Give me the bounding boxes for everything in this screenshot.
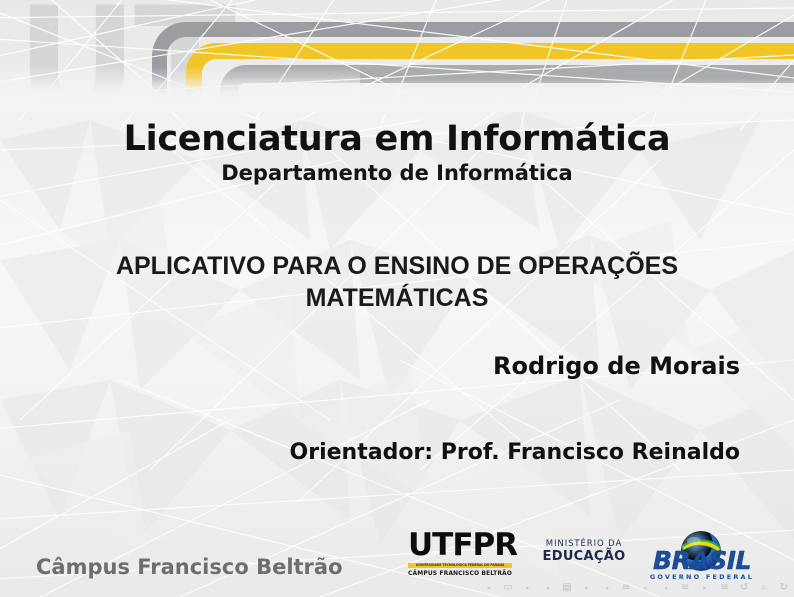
- course-subtitle: Departamento de Informática: [0, 161, 794, 185]
- utfpr-logo-rule: UNIVERSIDADE TECNOLÓGICA FEDERAL DO PARA…: [408, 563, 512, 568]
- list-next-arrow-icon[interactable]: ▸: [640, 582, 653, 595]
- presentation-slide: UT: [0, 0, 794, 597]
- utfpr-logo-mark: UTFPR: [408, 530, 512, 561]
- rotate-left-icon[interactable]: ↺: [738, 582, 751, 595]
- header-fade: [0, 78, 794, 112]
- rotate-right-icon[interactable]: ↻: [777, 582, 790, 595]
- work-title: APLICATIVO PARA O ENSINO DE OPERAÇÕES MA…: [60, 250, 734, 314]
- list-prev-arrow-icon[interactable]: ◂: [600, 582, 613, 595]
- next-page-arrow-icon[interactable]: ▸: [521, 582, 534, 595]
- brasil-logo: BRASIL GOVERNO FEDERAL: [636, 528, 768, 584]
- previous-page-arrow-icon[interactable]: ◂: [482, 582, 495, 595]
- brasil-logo-word: BRASIL: [636, 548, 768, 573]
- campus-label: Câmpus Francisco Beltrão: [36, 555, 343, 579]
- mec-logo: MINISTÉRIO DA EDUCAÇÃO: [542, 540, 626, 564]
- utfpr-logo-fullname: UNIVERSIDADE TECNOLÓGICA FEDERAL DO PARA…: [408, 563, 512, 568]
- slide-header: UT: [0, 0, 794, 112]
- page-list-icon[interactable]: ≡: [620, 582, 633, 595]
- thumbnails-icon[interactable]: ≡: [718, 582, 731, 595]
- utfpr-logo-campus: CÂMPUS FRANCISCO BELTRÃO: [408, 570, 512, 577]
- author-name: Rodrigo de Morais: [0, 352, 740, 380]
- previous-view-arrow-icon[interactable]: ◂: [541, 582, 554, 595]
- outline-next-arrow-icon[interactable]: ▸: [699, 582, 712, 595]
- utfpr-logo: UTFPR UNIVERSIDADE TECNOLÓGICA FEDERAL D…: [408, 530, 512, 577]
- two-page-view-icon[interactable]: ▤: [561, 582, 574, 595]
- advisor-name: Orientador: Prof. Francisco Reinaldo: [0, 440, 740, 465]
- next-view-arrow-icon[interactable]: ▸: [580, 582, 593, 595]
- mec-logo-line2: EDUCAÇÃO: [542, 550, 626, 564]
- course-title: Licenciatura em Informática: [0, 119, 794, 159]
- outline-prev-arrow-icon[interactable]: ◂: [659, 582, 672, 595]
- outline-icon[interactable]: ≡: [679, 582, 692, 595]
- footer-logos: UTFPR UNIVERSIDADE TECNOLÓGICA FEDERAL D…: [408, 528, 776, 586]
- single-page-view-icon[interactable]: ▭: [502, 582, 515, 595]
- pdf-viewer-toolbar[interactable]: ◂ ▭ ▸ ◂ ▤ ▸ ◂ ≡ ▸ ◂ ≡ ▸ ≡ ↺ ⌕ ↻: [482, 580, 790, 596]
- zoom-icon[interactable]: ⌕: [758, 582, 771, 595]
